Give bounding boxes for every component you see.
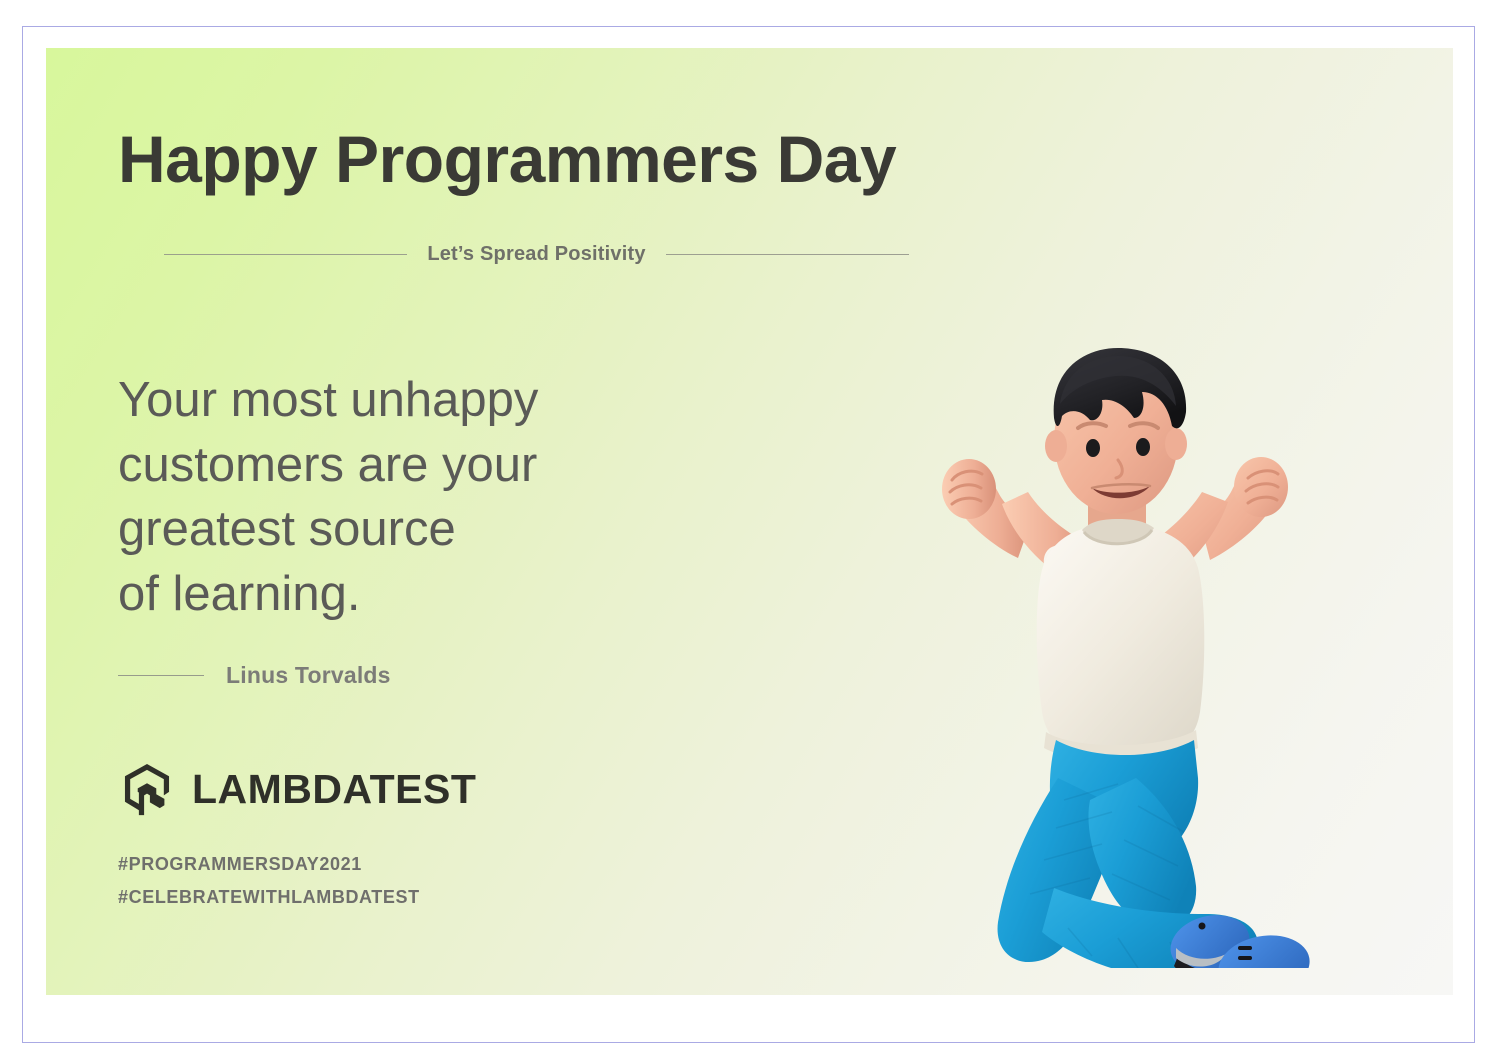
hashtag-2: #CELEBRATEWITHLAMBDATEST <box>118 881 420 914</box>
quote-line-1: Your most unhappy <box>118 368 738 433</box>
page-title: Happy Programmers Day <box>118 126 896 192</box>
quote-line-3: greatest source <box>118 497 738 562</box>
author-name: Linus Torvalds <box>226 662 391 689</box>
poster-card: Happy Programmers Day Let’s Spread Posit… <box>46 48 1453 995</box>
brand-logo: LAMBDATEST <box>118 760 476 818</box>
subtitle-row: Let’s Spread Positivity <box>164 240 909 268</box>
brand-wordmark: LAMBDATEST <box>192 766 476 813</box>
hashtag-1: #PROGRAMMERSDAY2021 <box>118 848 420 881</box>
lambdatest-hexagon-icon <box>118 760 176 818</box>
subtitle-rule-left <box>164 254 407 255</box>
poster-page: Happy Programmers Day Let’s Spread Posit… <box>0 0 1500 1061</box>
character-illustration <box>806 308 1426 968</box>
subtitle-text: Let’s Spread Positivity <box>427 243 645 266</box>
quote-attribution: Linus Torvalds <box>118 662 391 689</box>
quote-line-4: of learning. <box>118 562 738 627</box>
quote-line-2: customers are your <box>118 433 738 498</box>
hashtag-list: #PROGRAMMERSDAY2021 #CELEBRATEWITHLAMBDA… <box>118 848 420 915</box>
quote-text: Your most unhappy customers are your gre… <box>118 368 738 627</box>
subtitle-rule-right <box>666 254 909 255</box>
attribution-rule <box>118 675 204 676</box>
